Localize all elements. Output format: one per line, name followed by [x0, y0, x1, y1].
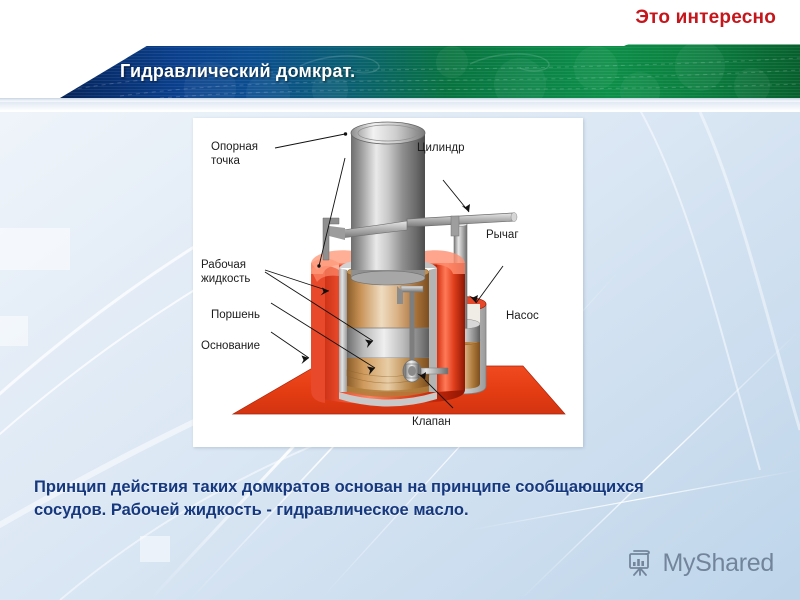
- diagram-panel: Опорная точка Рабочая жидкость Поршень О…: [193, 118, 583, 447]
- eyebrow-label: Это интересно: [635, 7, 776, 29]
- label-working-fluid: Рабочая жидкость: [201, 258, 250, 287]
- body-paragraph: Принцип действия таких домкратов основан…: [34, 476, 694, 522]
- label-cylinder: Цилиндр: [417, 141, 465, 155]
- slide-header: Это интересно: [0, 0, 800, 112]
- header-shadow: [0, 102, 800, 111]
- presentation-board-icon: [625, 548, 655, 578]
- label-pump: Насос: [506, 309, 539, 323]
- label-base: Основание: [201, 339, 260, 353]
- banner-top-highlight: [0, 44, 800, 45]
- main-ram: [351, 122, 425, 285]
- leader-dots: [317, 132, 347, 267]
- label-lever: Рычаг: [486, 228, 519, 242]
- label-valve: Клапан: [412, 415, 451, 429]
- page-title: Гидравлический домкрат.: [120, 61, 355, 82]
- watermark-text: MyShared: [662, 549, 774, 578]
- label-piston: Поршень: [211, 308, 260, 322]
- slide-canvas: Это интересно: [0, 0, 800, 600]
- myshared-watermark: MyShared: [625, 548, 774, 578]
- label-support-point: Опорная точка: [211, 140, 258, 169]
